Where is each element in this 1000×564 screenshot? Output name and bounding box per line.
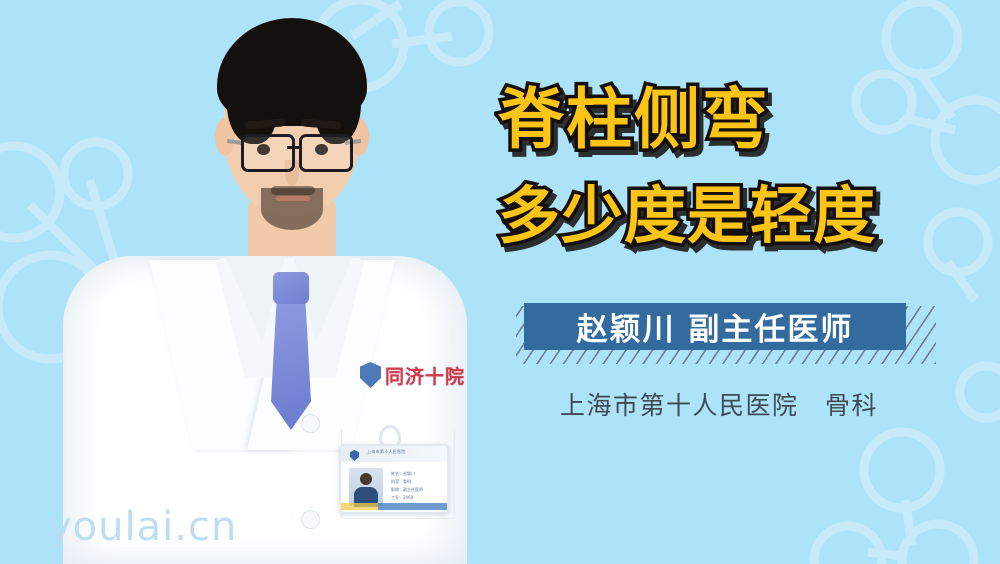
coat-button-lower <box>301 510 320 529</box>
headline-line-2: 多少度是轻度 <box>498 168 978 264</box>
badge-photo <box>349 468 383 506</box>
headline: 脊柱侧弯 多少度是轻度 <box>498 72 978 264</box>
badge-fields: 姓名：赵颖川 科室：骨科 职称：副主任医师 工号：2069 <box>391 470 423 502</box>
glasses-lens-right <box>299 134 353 172</box>
id-badge: 上海市第十人民医院 姓名：赵颖川 科室：骨科 职称：副主任医师 工号：2069 <box>339 444 449 514</box>
headline-line-1: 脊柱侧弯 <box>498 72 978 168</box>
hair <box>217 18 367 126</box>
coat-embroidery-text: 同济十院 <box>385 362 465 389</box>
doctor-portrait: 同济十院 上海市第十人民医院 姓名：赵颖川 科室：骨科 职称：副主任医师 工号：… <box>55 0 475 564</box>
glasses-lens-left <box>241 134 295 172</box>
badge-field-name: 姓名：赵颖川 <box>391 470 423 478</box>
mouth <box>276 196 310 201</box>
thumbnail-canvas: 同济十院 上海市第十人民医院 姓名：赵颖川 科室：骨科 职称：副主任医师 工号：… <box>0 0 1000 564</box>
badge-field-department: 科室：骨科 <box>391 478 423 486</box>
necktie-knot <box>273 272 309 304</box>
badge-field-id: 工号：2069 <box>391 494 423 502</box>
doctor-name-text: 赵颖川 副主任医师 <box>524 303 906 350</box>
badge-footer-stripe <box>341 503 447 510</box>
goatee <box>261 188 323 230</box>
affiliation-text: 上海市第十人民医院 骨科 <box>524 386 914 422</box>
glasses-bridge <box>287 146 301 149</box>
coat-button-upper <box>301 414 320 433</box>
doctor-name-banner: 赵颖川 副主任医师 <box>524 303 906 350</box>
badge-field-title: 职称：副主任医师 <box>391 486 423 494</box>
site-watermark: youlai.cn <box>48 504 237 550</box>
badge-hospital-name: 上海市第十人民医院 <box>367 449 406 455</box>
